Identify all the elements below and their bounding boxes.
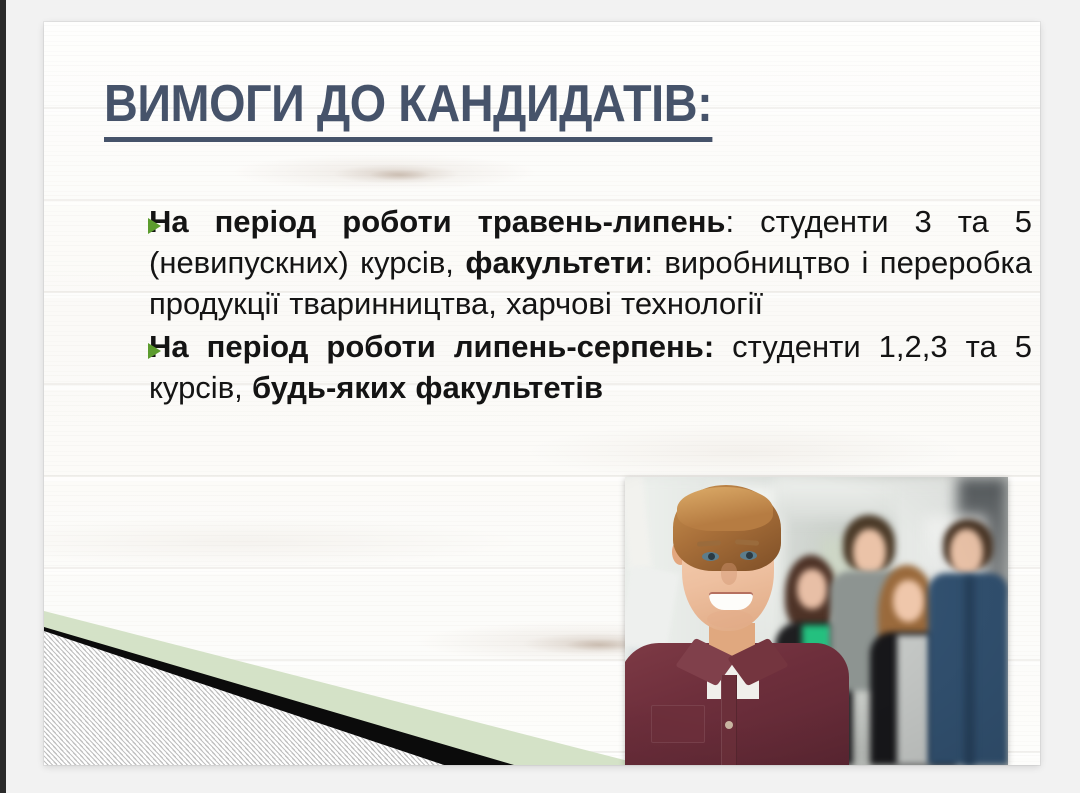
background-student-a-face (797, 569, 827, 609)
foreground-student-placket (721, 675, 737, 765)
students-photo (625, 477, 1008, 765)
viewer-left-rail (0, 0, 6, 793)
bullet-text-1: На період роботи травень-липень: студент… (149, 202, 1032, 325)
title-area: ВИМОГИ ДО КАНДИДАТІВ: (104, 77, 984, 142)
photo-backdrop (625, 477, 1008, 765)
bullet-2-segment-3: будь-яких факультетів (252, 370, 603, 405)
foreground-student-nose (721, 563, 737, 585)
green-triangle-bullet-icon (148, 218, 161, 234)
foreground-student-chin (707, 610, 753, 628)
bullet-list: На період роботи травень-липень: студент… (102, 202, 1032, 411)
foreground-student-pocket (651, 705, 705, 743)
slide-viewer: ВИМОГИ ДО КАНДИДАТІВ: На період роботи т… (0, 0, 1080, 793)
list-item: На період роботи липень-серпень: студент… (102, 327, 1032, 409)
page-title: ВИМОГИ ДО КАНДИДАТІВ: (104, 77, 712, 142)
bullet-text-2: На період роботи липень-серпень: студент… (149, 327, 1032, 409)
background-student-b-face (853, 529, 886, 575)
foreground-student-hair-front (677, 487, 773, 531)
foreground-student-pupil-right (746, 552, 753, 559)
list-item: На період роботи травень-липень: студент… (102, 202, 1032, 325)
foreground-student-pupil-left (708, 553, 715, 560)
background-student-c-face (893, 580, 924, 622)
bullet-1-segment-3: факультети (465, 245, 644, 280)
green-triangle-bullet-icon (148, 343, 161, 359)
background-student-d-placket (964, 577, 975, 765)
foreground-student-smile (709, 592, 753, 610)
foreground-student-button (725, 721, 733, 729)
bullet-1-segment-1: На період роботи травень-липень (149, 204, 726, 239)
bullet-2-segment-1: На період роботи липень-серпень: (149, 329, 714, 364)
background-student-c-shirt (897, 635, 931, 765)
background-student-d-face (950, 529, 983, 575)
presentation-slide: ВИМОГИ ДО КАНДИДАТІВ: На період роботи т… (44, 22, 1040, 765)
